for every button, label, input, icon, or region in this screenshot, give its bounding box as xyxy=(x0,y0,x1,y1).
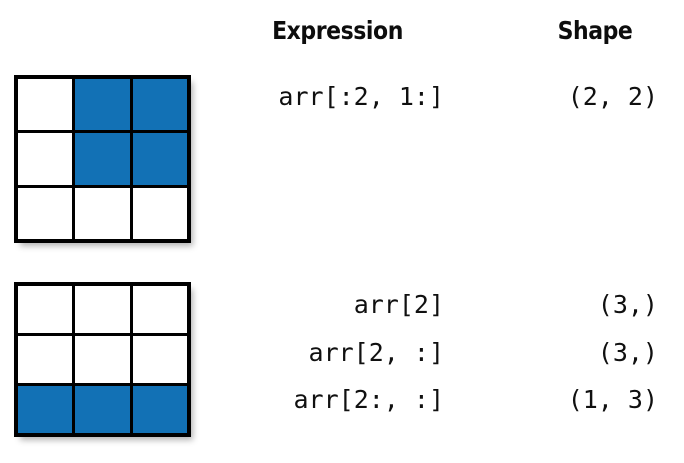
grid-cell-r0c1 xyxy=(75,79,129,130)
array-grid-1 xyxy=(14,75,191,243)
grid-cell-r1c1 xyxy=(75,336,129,383)
grid-cell-r0c2 xyxy=(133,286,187,333)
grid-cell-r2c1 xyxy=(75,386,129,433)
numpy-slicing-figure: Expression Shape arr[:2, 1:] (2, 2) arr[… xyxy=(0,0,684,463)
cell-shape: (1, 3) xyxy=(464,383,658,417)
grid-cell-r0c1 xyxy=(75,286,129,333)
grid-cell-r0c0 xyxy=(18,79,72,130)
grid-cell-r0c0 xyxy=(18,286,72,333)
grid-cell-r2c0 xyxy=(18,188,72,239)
grid-cell-r2c0 xyxy=(18,386,72,433)
cell-shape: (2, 2) xyxy=(464,80,658,114)
grid-cell-r2c2 xyxy=(133,386,187,433)
cell-expression: arr[:2, 1:] xyxy=(215,80,444,114)
cell-expression: arr[2, :] xyxy=(215,336,444,370)
table-row: arr[2] (3,) xyxy=(215,288,684,322)
grid-cell-r2c2 xyxy=(133,188,187,239)
array-grid-2 xyxy=(14,282,191,437)
expression-shape-table: Expression Shape arr[:2, 1:] (2, 2) arr[… xyxy=(215,0,684,463)
grid-cell-r1c1 xyxy=(75,133,129,184)
cell-expression: arr[2] xyxy=(215,288,444,322)
grid-cell-r1c2 xyxy=(133,133,187,184)
column-header-expression: Expression xyxy=(230,16,446,45)
table-row: arr[2, :] (3,) xyxy=(215,336,684,370)
column-header-shape: Shape xyxy=(525,16,666,45)
grid-cell-r0c2 xyxy=(133,79,187,130)
table-row: arr[:2, 1:] (2, 2) xyxy=(215,80,684,114)
cell-shape: (3,) xyxy=(464,288,658,322)
grid-cell-r1c0 xyxy=(18,133,72,184)
table-row: arr[2:, :] (1, 3) xyxy=(215,383,684,417)
grid-cell-r2c1 xyxy=(75,188,129,239)
cell-expression: arr[2:, :] xyxy=(215,383,444,417)
grid-cell-r1c0 xyxy=(18,336,72,383)
cell-shape: (3,) xyxy=(464,336,658,370)
grid-cell-r1c2 xyxy=(133,336,187,383)
